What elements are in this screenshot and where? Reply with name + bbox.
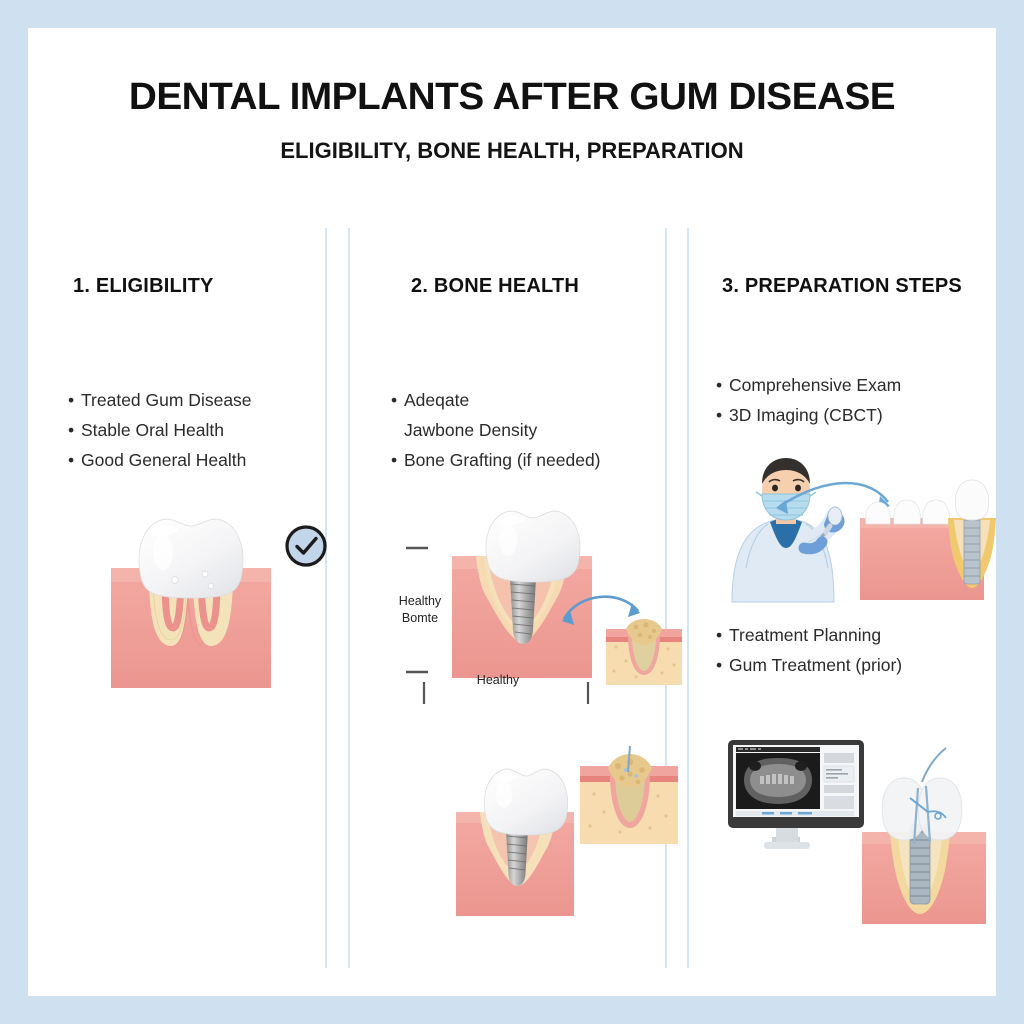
bone-height-label-text: Healthy Bomte	[399, 594, 441, 625]
column-3-bullets-top: •Comprehensive Exam •3D Imaging (CBCT)	[716, 370, 901, 430]
bullet-dot: •	[391, 385, 404, 415]
bullet-dot: •	[68, 385, 81, 415]
list-item-label: Gum Treatment (prior)	[729, 655, 902, 675]
list-item: •3D Imaging (CBCT)	[716, 400, 901, 430]
list-item-label: Comprehensive Exam	[729, 375, 901, 395]
baseline-label-text: Healthy	[477, 673, 519, 687]
healthy-tooth-in-gum-illustration	[83, 504, 303, 714]
list-item: •Bone Grafting (if needed)	[391, 445, 601, 475]
list-item: •Gum Treatment (prior)	[716, 650, 902, 680]
list-item-label: Stable Oral Health	[81, 420, 224, 440]
column-3-bullets-bottom: •Treatment Planning •Gum Treatment (prio…	[716, 620, 902, 680]
list-item-continuation: Jawbone Density	[391, 415, 601, 445]
dentist-placing-implant-illustration	[720, 456, 984, 602]
bullet-dot: •	[391, 445, 404, 475]
bullet-dot: •	[716, 620, 729, 650]
baseline-label: Healthy	[448, 672, 548, 689]
bullet-dot: •	[716, 370, 729, 400]
column-1-bullets: •Treated Gum Disease •Stable Oral Health…	[68, 385, 252, 475]
list-item: •Stable Oral Health	[68, 415, 252, 445]
list-item-label: Bone Grafting (if needed)	[404, 450, 601, 470]
column-3-heading: 3. PREPARATION STEPS	[722, 275, 962, 298]
list-item: •Treated Gum Disease	[68, 385, 252, 415]
list-item-label: 3D Imaging (CBCT)	[729, 405, 883, 425]
cbct-monitor-xray-illustration	[714, 728, 986, 928]
bullet-dot: •	[68, 445, 81, 475]
list-item-label: Treatment Planning	[729, 625, 881, 645]
column-1-heading: 1. ELIGIBILITY	[73, 275, 214, 298]
list-item: •Comprehensive Exam	[716, 370, 901, 400]
bullet-dot: •	[68, 415, 81, 445]
list-item: •Treatment Planning	[716, 620, 902, 650]
list-item-label: Good General Health	[81, 450, 246, 470]
bone-height-label: Healthy Bomte	[380, 593, 460, 627]
implant-with-graft-illustration	[452, 746, 682, 926]
column-2-heading: 2. BONE HEALTH	[411, 275, 579, 298]
divider-1b	[348, 228, 350, 968]
check-circle-badge	[284, 524, 328, 568]
list-item: •Adeqate	[391, 385, 601, 415]
column-2-bullets: •Adeqate Jawbone Density •Bone Grafting …	[391, 385, 601, 475]
page-title: DENTAL IMPLANTS AFTER GUM DISEASE	[18, 76, 1005, 119]
page-subtitle: ELIGIBILITY, BONE HEALTH, PREPARATION	[28, 138, 996, 164]
list-item-label: Treated Gum Disease	[81, 390, 252, 410]
divider-1a	[325, 228, 327, 968]
bone-graft-inset	[558, 573, 688, 693]
bullet-dot: •	[716, 650, 729, 680]
list-item-label: Jawbone Density	[404, 420, 537, 440]
list-item: •Good General Health	[68, 445, 252, 475]
infographic-card: DENTAL IMPLANTS AFTER GUM DISEASE ELIGIB…	[28, 28, 996, 996]
bullet-dot: •	[716, 400, 729, 430]
list-item-label: Adeqate	[404, 390, 469, 410]
